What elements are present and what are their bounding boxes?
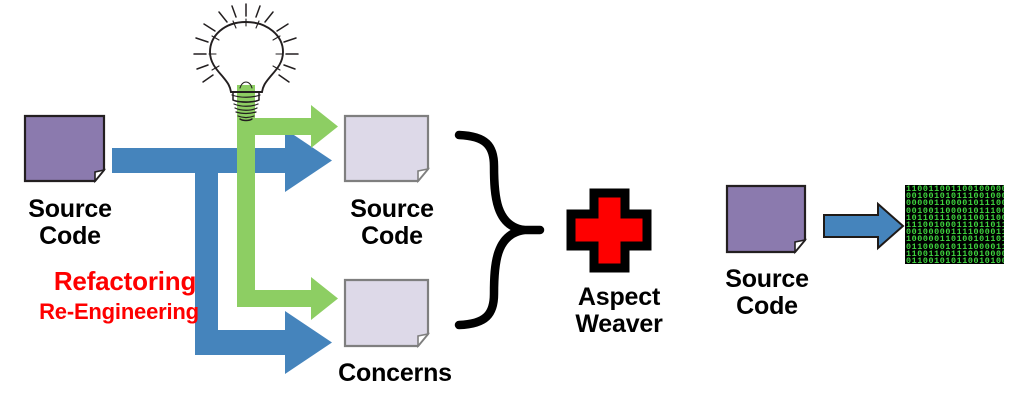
binary-row: 0110010101100101001 bbox=[906, 258, 1004, 264]
shape-layer: 10 bbox=[0, 0, 1028, 420]
label-refactoring: Refactoring bbox=[25, 267, 225, 295]
red-plus-icon bbox=[571, 193, 647, 268]
blue-refactoring-arrow bbox=[112, 129, 332, 374]
document-source-code-output bbox=[345, 116, 428, 181]
label-source-code-output: Source Code bbox=[332, 196, 452, 250]
document-source-code-woven bbox=[727, 186, 805, 252]
curly-brace-icon bbox=[459, 135, 540, 325]
diagram-canvas: 10 bbox=[0, 0, 1028, 420]
green-insight-arrow bbox=[237, 85, 338, 320]
compile-arrow bbox=[824, 204, 903, 248]
document-source-code-input bbox=[25, 116, 104, 181]
label-concerns: Concerns bbox=[325, 360, 465, 387]
document-concerns bbox=[345, 280, 428, 346]
label-source-code-input: Source Code bbox=[10, 196, 130, 250]
label-aspect-weaver: Aspect Weaver bbox=[549, 284, 689, 338]
label-re-engineering: Re-Engineering bbox=[5, 300, 233, 324]
binary-code-icon: 1100110011001000000001001010111001000100… bbox=[905, 185, 1004, 264]
label-source-code-woven: Source Code bbox=[707, 266, 827, 320]
